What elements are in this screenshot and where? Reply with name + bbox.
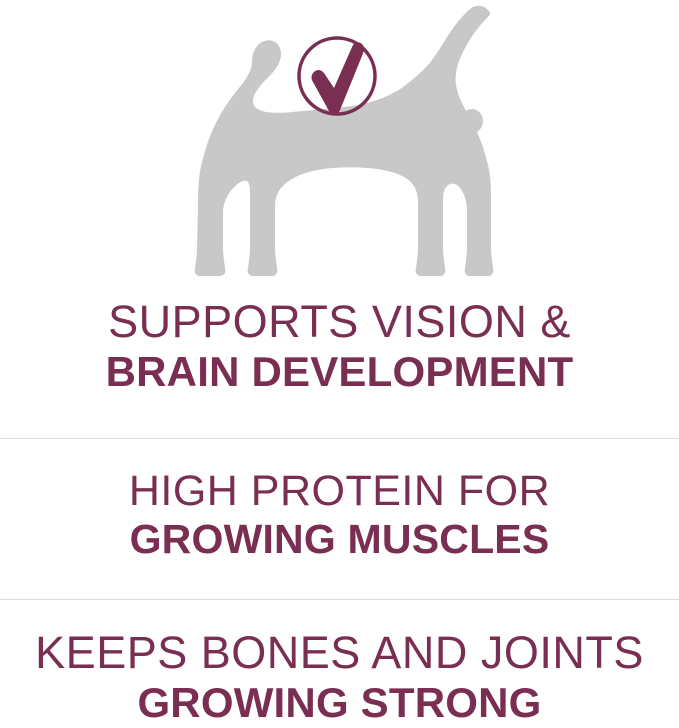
divider-2	[0, 599, 679, 600]
infographic-page: SUPPORTS VISION & BRAIN DEVELOPMENT HIGH…	[0, 0, 679, 728]
benefit-block-bones: KEEPS BONES AND JOINTS GROWING STRONG	[0, 627, 679, 727]
benefit-3-line-bold: GROWING STRONG	[0, 679, 679, 727]
benefit-1-line-light: SUPPORTS VISION &	[0, 296, 679, 348]
divider-1	[0, 438, 679, 439]
dog-illustration	[0, 0, 679, 290]
benefit-block-protein: HIGH PROTEIN FOR GROWING MUSCLES	[0, 466, 679, 563]
benefit-2-line-light: HIGH PROTEIN FOR	[0, 466, 679, 516]
benefit-3-line-light: KEEPS BONES AND JOINTS	[0, 627, 679, 679]
benefit-1-line-bold: BRAIN DEVELOPMENT	[0, 348, 679, 396]
dog-ear-icon	[461, 109, 483, 133]
benefit-block-vision: SUPPORTS VISION & BRAIN DEVELOPMENT	[0, 296, 679, 396]
benefit-2-line-bold: GROWING MUSCLES	[0, 516, 679, 563]
